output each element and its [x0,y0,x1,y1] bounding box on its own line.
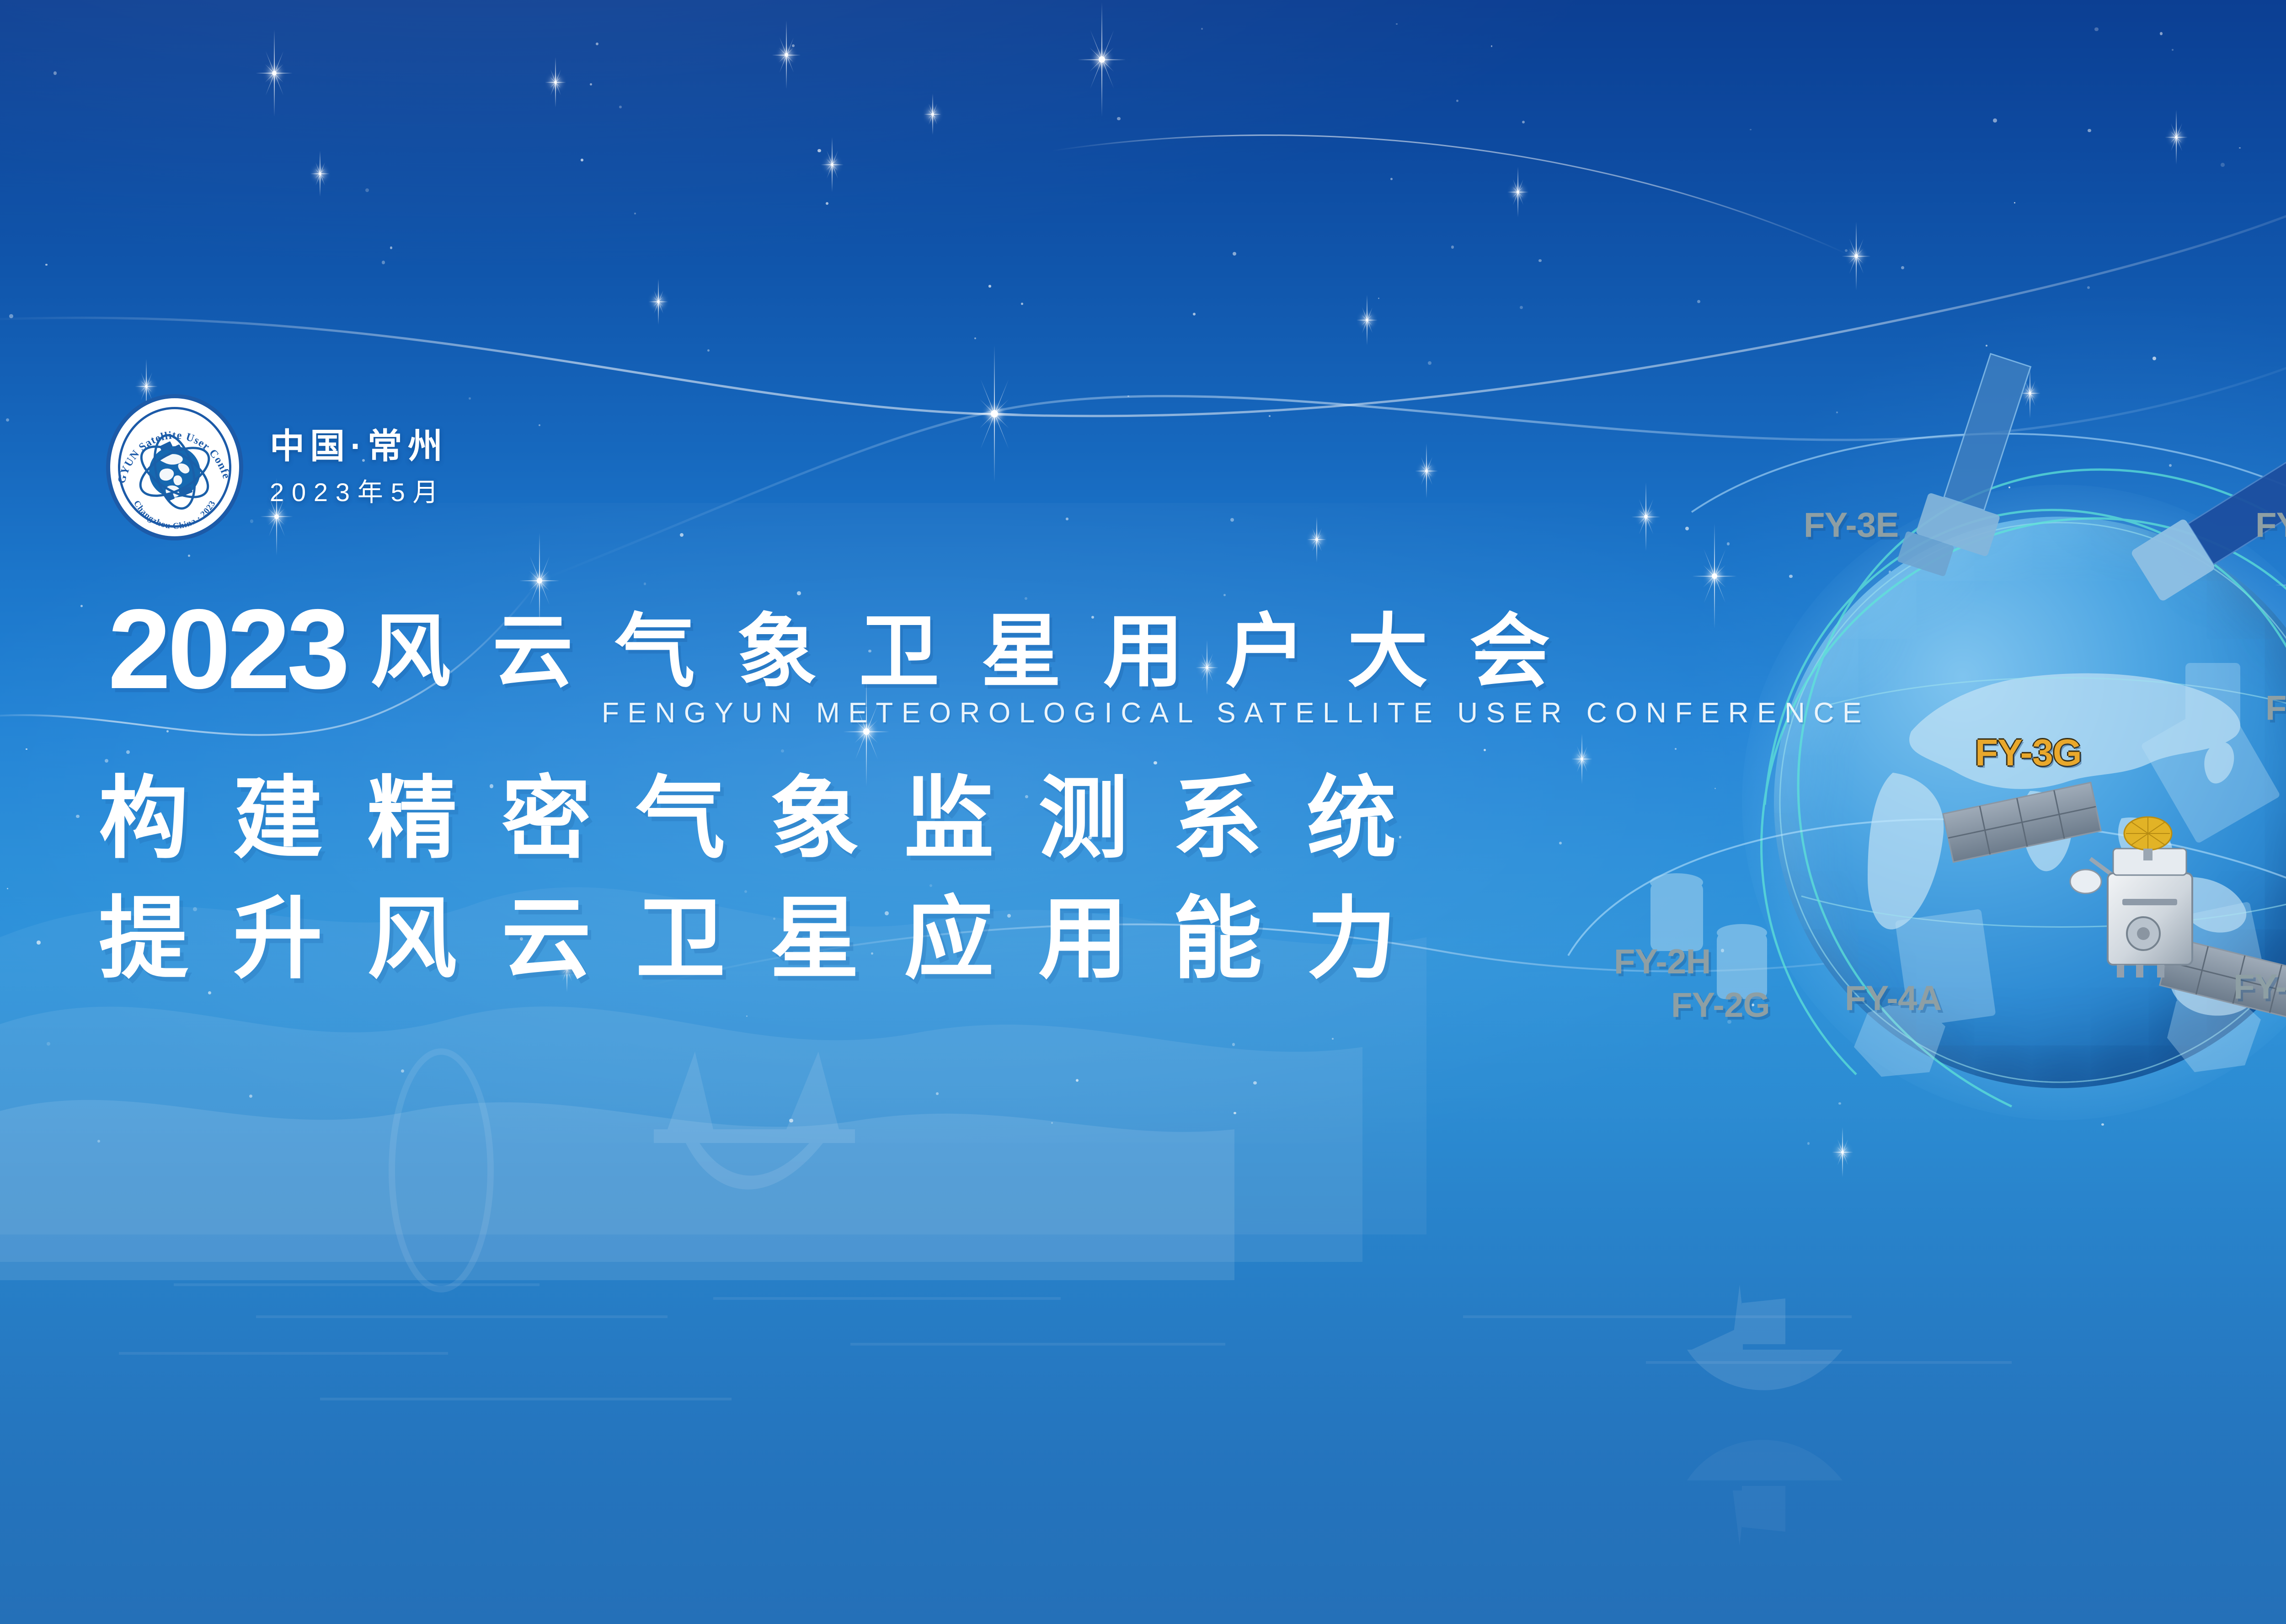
star-dot [974,337,976,339]
satellite-label-fy-3c: FY-3C [2255,505,2286,545]
star-dot [1456,100,1458,102]
star-dot [789,1119,793,1123]
star-dot [2172,49,2174,51]
conference-key-visual-poster: FY-3EFY-3CFY-3DFY-3GFY-2HFY-2GFY-4AFY-4B [0,0,2286,1624]
star-dot [166,730,169,732]
star-dot [680,533,684,537]
star-dot [644,582,646,585]
star-dot [1845,249,1848,252]
star-dot [1522,121,1525,123]
star-dot [2169,464,2172,467]
star-dot [1066,518,1068,520]
star-dot [1378,298,1379,299]
conference-emblem-logo: FENGYUN Satellite User Conference Changz… [106,394,243,540]
star-dot [188,555,191,557]
star-dot [1993,118,1997,123]
star-dot [596,43,599,46]
star-dot [1451,246,1454,249]
star-dot [1390,178,1393,180]
event-location-block: 中国·常州 2023年5月 [270,429,448,505]
star-dot [936,1092,939,1095]
star-dot [2094,27,2099,32]
star-dot [817,149,821,152]
star-dot [1269,415,1271,417]
star-dot [2152,357,2156,360]
star-dot [1396,23,1397,25]
star-dot [249,1095,252,1098]
headline-block: 2023 风 云 气 象 卫 星 用 户 大 会 FENGYUN METEORO… [108,599,1870,729]
star-dot [1201,28,1203,30]
landmark-silhouette [654,1052,855,1190]
slogan-line-2: 提 升 风 云 卫 星 应 用 能 力 [99,879,1406,999]
star-dot [76,815,80,818]
star-dot [1484,749,1486,751]
conference-name-en: FENGYUN METEOROLOGICAL SATELLITE USER CO… [602,697,1870,729]
star-dot [53,71,57,75]
star-dot [1675,748,1677,750]
satellite-label-fy-4b: FY-4B [2233,967,2286,1007]
satellite-label-fy-2h: FY-2H [1614,942,1711,982]
star-dot [1721,949,1725,952]
star-dot [9,314,13,318]
satellite-label-fy-3g: FY-3G [1975,732,2082,775]
star-dot [1685,527,1689,530]
star-dot [382,261,385,264]
star-dot [2160,32,2163,35]
star-dot [707,349,710,352]
star-dot [1232,1043,1235,1046]
star-dot [365,188,369,192]
star-dot [746,1015,748,1017]
star-dot [2101,1123,2104,1126]
star-dot [26,748,27,750]
star-dot [1727,542,1730,545]
star-dot [1714,788,1716,789]
star-dot [6,418,9,422]
star-dot [1332,1038,1334,1040]
star-dot [2087,286,2090,289]
star-dot [1807,1142,1810,1145]
event-date: 2023年5月 [270,480,448,505]
star-dot [1230,518,1234,522]
star-dot [1127,395,1129,397]
star-dot [1838,1102,1841,1105]
satellite-label-fy-3e: FY-3E [1804,505,1898,545]
star-dot [2088,129,2091,133]
star-dot [1836,411,1838,413]
star-dot [2221,163,2225,167]
star-dot [1117,117,1120,120]
star-dot [781,749,784,753]
star-dot [1051,1122,1053,1124]
star-dot [45,264,48,266]
star-dot [1021,303,1023,305]
star-dot [1428,361,1431,365]
star-dot [826,202,828,205]
star-dot [1901,266,1904,269]
star-dot [1986,345,1987,347]
star-dot [581,159,583,161]
satellite-label-fy-4a: FY-4A [1845,978,1942,1018]
slogan-line-1: 构 建 精 密 气 象 监 测 系 统 [99,759,1406,879]
star-dot [2239,147,2240,149]
satellite-label-fy-3d: FY-3D [2265,688,2286,728]
star-dot [1193,313,1196,315]
star-dot [1076,1079,1079,1082]
star-dot [792,44,795,47]
star-dot [539,424,540,426]
star-dot [390,246,392,249]
event-year: 2023 [108,599,347,699]
boat-silhouette [1687,1285,1843,1390]
star-dot [47,1042,51,1046]
emblem-arc-bottom-text: Changzhou China · 2023 [132,499,218,531]
satellite-label-fy-2g: FY-2G [1671,985,1770,1025]
star-dot [1233,252,1237,256]
star-dot [97,1140,100,1143]
star-dot [988,285,991,287]
star-dot [1559,842,1562,844]
brand-block: FENGYUN Satellite User Conference Changz… [106,394,448,540]
star-dot [797,591,801,595]
star-dot [469,397,471,400]
star-dot [7,888,8,889]
star-dot [1491,45,1493,47]
svg-text:Changzhou China · 2023: Changzhou China · 2023 [132,499,218,531]
star-dot [80,605,83,607]
star-dot [1234,1112,1236,1114]
star-dot [1750,129,1752,131]
slogan-block: 构 建 精 密 气 象 监 测 系 统 提 升 风 云 卫 星 应 用 能 力 [99,759,1406,999]
star-dot [1520,306,1523,309]
star-dot [1253,1081,1256,1084]
star-dot [1697,300,1700,303]
star-dot [401,1069,404,1073]
star-dot [1223,594,1226,596]
star-dot [2014,202,2016,204]
star-dot [590,83,592,85]
star-dot [126,750,130,754]
star-dot [634,213,636,214]
star-dot [1538,259,1541,262]
star-dot [619,106,622,108]
emblem-artwork: FENGYUN Satellite User Conference Changz… [106,394,243,540]
star-dot [37,940,41,945]
event-city: 中国·常州 [270,429,448,464]
conference-name-cn: 风 云 气 象 卫 星 用 户 大 会 [370,612,1560,692]
